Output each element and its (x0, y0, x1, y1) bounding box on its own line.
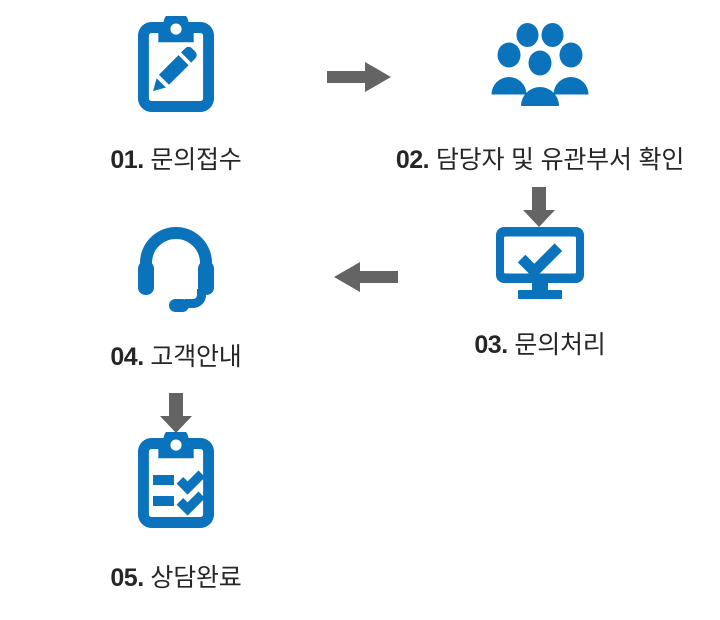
arrow-right-icon (325, 58, 395, 96)
process-step-02-name: 담당자 및 유관부서 확인 (436, 146, 684, 174)
process-step-01-label: 01. 문의접수 (110, 140, 241, 176)
clipboard-checklist-icon (134, 432, 218, 532)
group-people-icon (490, 16, 590, 116)
process-step-05: 05. 상담완료 (56, 432, 296, 594)
process-step-05-name: 상담완료 (150, 564, 241, 592)
arrow-down-icon (157, 392, 195, 434)
process-step-02: 02. 담당자 및 유관부서 확인 (380, 16, 700, 176)
process-step-03-number: 03. (474, 331, 507, 359)
process-step-04-number: 04. (110, 343, 143, 371)
process-step-01-number: 01. (110, 146, 143, 174)
process-step-03-label: 03. 문의처리 (474, 325, 605, 361)
process-step-05-label: 05. 상담완료 (110, 558, 241, 594)
process-step-05-number: 05. (110, 564, 143, 592)
clipboard-pencil-icon (134, 16, 218, 116)
arrow-left-icon (330, 258, 400, 296)
process-step-03: 03. 문의처리 (420, 225, 660, 361)
process-step-02-label: 02. 담당자 및 유관부서 확인 (396, 140, 684, 176)
arrow-down-icon (520, 186, 558, 228)
process-step-01-name: 문의접수 (150, 146, 241, 174)
process-step-02-number: 02. (396, 146, 429, 174)
process-step-04: 04. 고객안내 (56, 225, 296, 373)
monitor-check-icon (494, 225, 586, 301)
process-step-01: 01. 문의접수 (56, 16, 296, 176)
process-step-04-label: 04. 고객안내 (110, 337, 241, 373)
headset-icon (132, 225, 220, 313)
process-flow-diagram: 01. 문의접수 02. 담당자 및 유관부서 확인 (0, 0, 720, 620)
process-step-04-name: 고객안내 (150, 343, 241, 371)
process-step-03-name: 문의처리 (514, 331, 605, 359)
